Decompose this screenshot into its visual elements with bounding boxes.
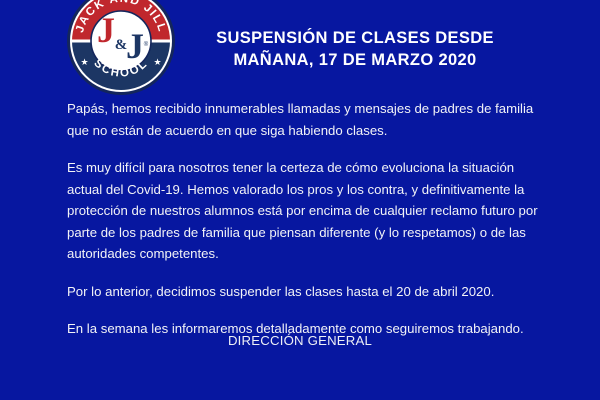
title-line-2: MAÑANA, 17 DE MARZO 2020 [180, 49, 530, 71]
star-icon: ★ [80, 57, 88, 67]
body-paragraph: Por lo anterior, decidimos suspender las… [67, 281, 547, 303]
announcement-poster: JACK AND JILL SCHOOL ★ ★ J J & ® SUSPENS… [0, 0, 600, 400]
logo-ampersand: & [115, 37, 128, 53]
school-logo: JACK AND JILL SCHOOL ★ ★ J J & ® [66, 0, 176, 96]
poster-body: Papás, hemos recibido innumerables llama… [67, 98, 547, 340]
poster-title: SUSPENSIÓN DE CLASES DESDE MAÑANA, 17 DE… [180, 27, 530, 71]
registered-trademark-icon: ® [144, 41, 149, 48]
logo-monogram-j-navy: J [126, 26, 144, 66]
body-paragraph: Papás, hemos recibido innumerables llama… [67, 98, 547, 141]
signature-line: DIRECCIÓN GENERAL [0, 332, 600, 350]
title-line-1: SUSPENSIÓN DE CLASES DESDE [180, 27, 530, 49]
logo-monogram-j-red: J [97, 10, 115, 50]
star-icon: ★ [153, 57, 161, 67]
body-paragraph: Es muy difícil para nosotros tener la ce… [67, 157, 547, 265]
